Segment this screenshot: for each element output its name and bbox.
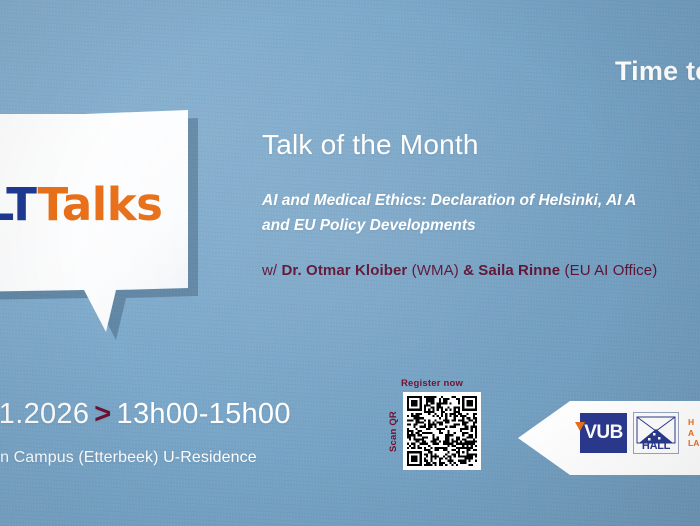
- register-block[interactable]: Register now Scan QR: [384, 378, 494, 476]
- vub-logo-text: VUB: [584, 422, 623, 444]
- speaker-two-affiliation: (EU AI Office): [560, 262, 657, 279]
- register-now-label: Register now: [401, 378, 463, 389]
- speakers-joiner: &: [459, 262, 478, 279]
- partner-name-line2: A: [688, 428, 700, 439]
- lt-talks-logo: LTTalks: [0, 74, 194, 336]
- partner-logos: VUB HALL H A LA: [580, 412, 700, 454]
- qr-code[interactable]: [403, 392, 481, 470]
- logo-lt-text: LT: [0, 178, 38, 231]
- event-date: .01.2026: [0, 398, 89, 430]
- event-datetime: .01.2026>13h00-15h00: [0, 398, 291, 431]
- talk-subtitle-line1: AI and Medical Ethics: Declaration of He…: [262, 192, 636, 209]
- partner-name-line3: LA: [688, 438, 700, 449]
- speaker-two-name: Saila Rinne: [478, 262, 560, 279]
- tagline-lead: Time to: [615, 56, 700, 86]
- speaker-one-name: Dr. Otmar Kloiber: [281, 262, 407, 279]
- partner-name-text: H A LA: [688, 417, 700, 449]
- talk-subtitle-line2: and EU Policy Developments: [262, 217, 476, 234]
- logo-wordmark: LTTalks: [0, 178, 190, 231]
- main-content: Talk of the Month AI and Medical Ethics:…: [262, 128, 700, 279]
- speakers-line: w/ Dr. Otmar Kloiber (WMA) & Saila Rinne…: [262, 262, 700, 279]
- hall-logo-text: HALL: [634, 440, 678, 452]
- talk-title: Talk of the Month: [262, 128, 700, 162]
- speaker-one-affiliation: (WMA): [407, 262, 458, 279]
- vub-logo: VUB: [580, 413, 627, 453]
- speakers-lead: w/: [262, 262, 281, 279]
- partner-banner: VUB HALL H A LA: [512, 399, 700, 477]
- hall-logo: HALL: [633, 412, 679, 454]
- logo-talks-text: Talks: [38, 178, 163, 231]
- event-time: 13h00-15h00: [117, 398, 291, 430]
- qr-code-canvas[interactable]: [407, 396, 477, 466]
- event-venue: Main Campus (Etterbeek) U-Residence: [0, 449, 257, 467]
- partner-name-line1: H: [688, 417, 700, 428]
- event-poster: LTTalks Time to ta Talk of the Month AI …: [0, 0, 700, 526]
- arrow-separator-icon: >: [89, 398, 116, 430]
- tagline: Time to ta: [615, 56, 700, 87]
- scan-qr-label: Scan QR: [388, 411, 399, 452]
- talk-subtitle: AI and Medical Ethics: Declaration of He…: [262, 188, 700, 238]
